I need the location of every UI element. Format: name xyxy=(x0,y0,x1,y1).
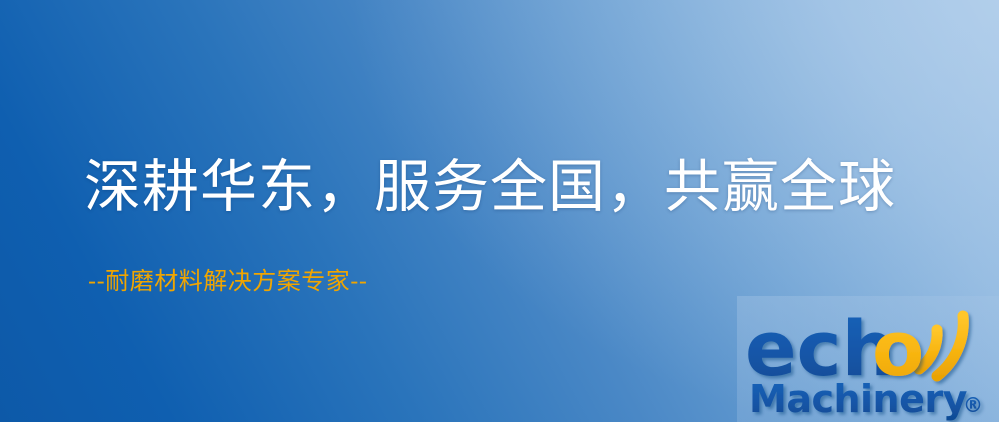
banner-headline: 深耕华东，服务全国，共赢全球 xyxy=(84,152,896,222)
banner-subtitle: --耐磨材料解决方案专家-- xyxy=(88,266,367,296)
hero-banner: 深耕华东，服务全国，共赢全球 --耐磨材料解决方案专家-- echo Machi… xyxy=(0,0,999,422)
logo-artwork: ech o Machinery ® xyxy=(737,296,999,422)
logo-tagline-group: Machinery ® xyxy=(749,377,983,421)
logo-tagline-machinery: Machinery xyxy=(749,377,968,421)
echo-machinery-logo[interactable]: echo Machinery® xyxy=(737,296,999,422)
logo-registered-mark: ® xyxy=(963,393,983,417)
echo-wave-arcs xyxy=(919,316,963,376)
